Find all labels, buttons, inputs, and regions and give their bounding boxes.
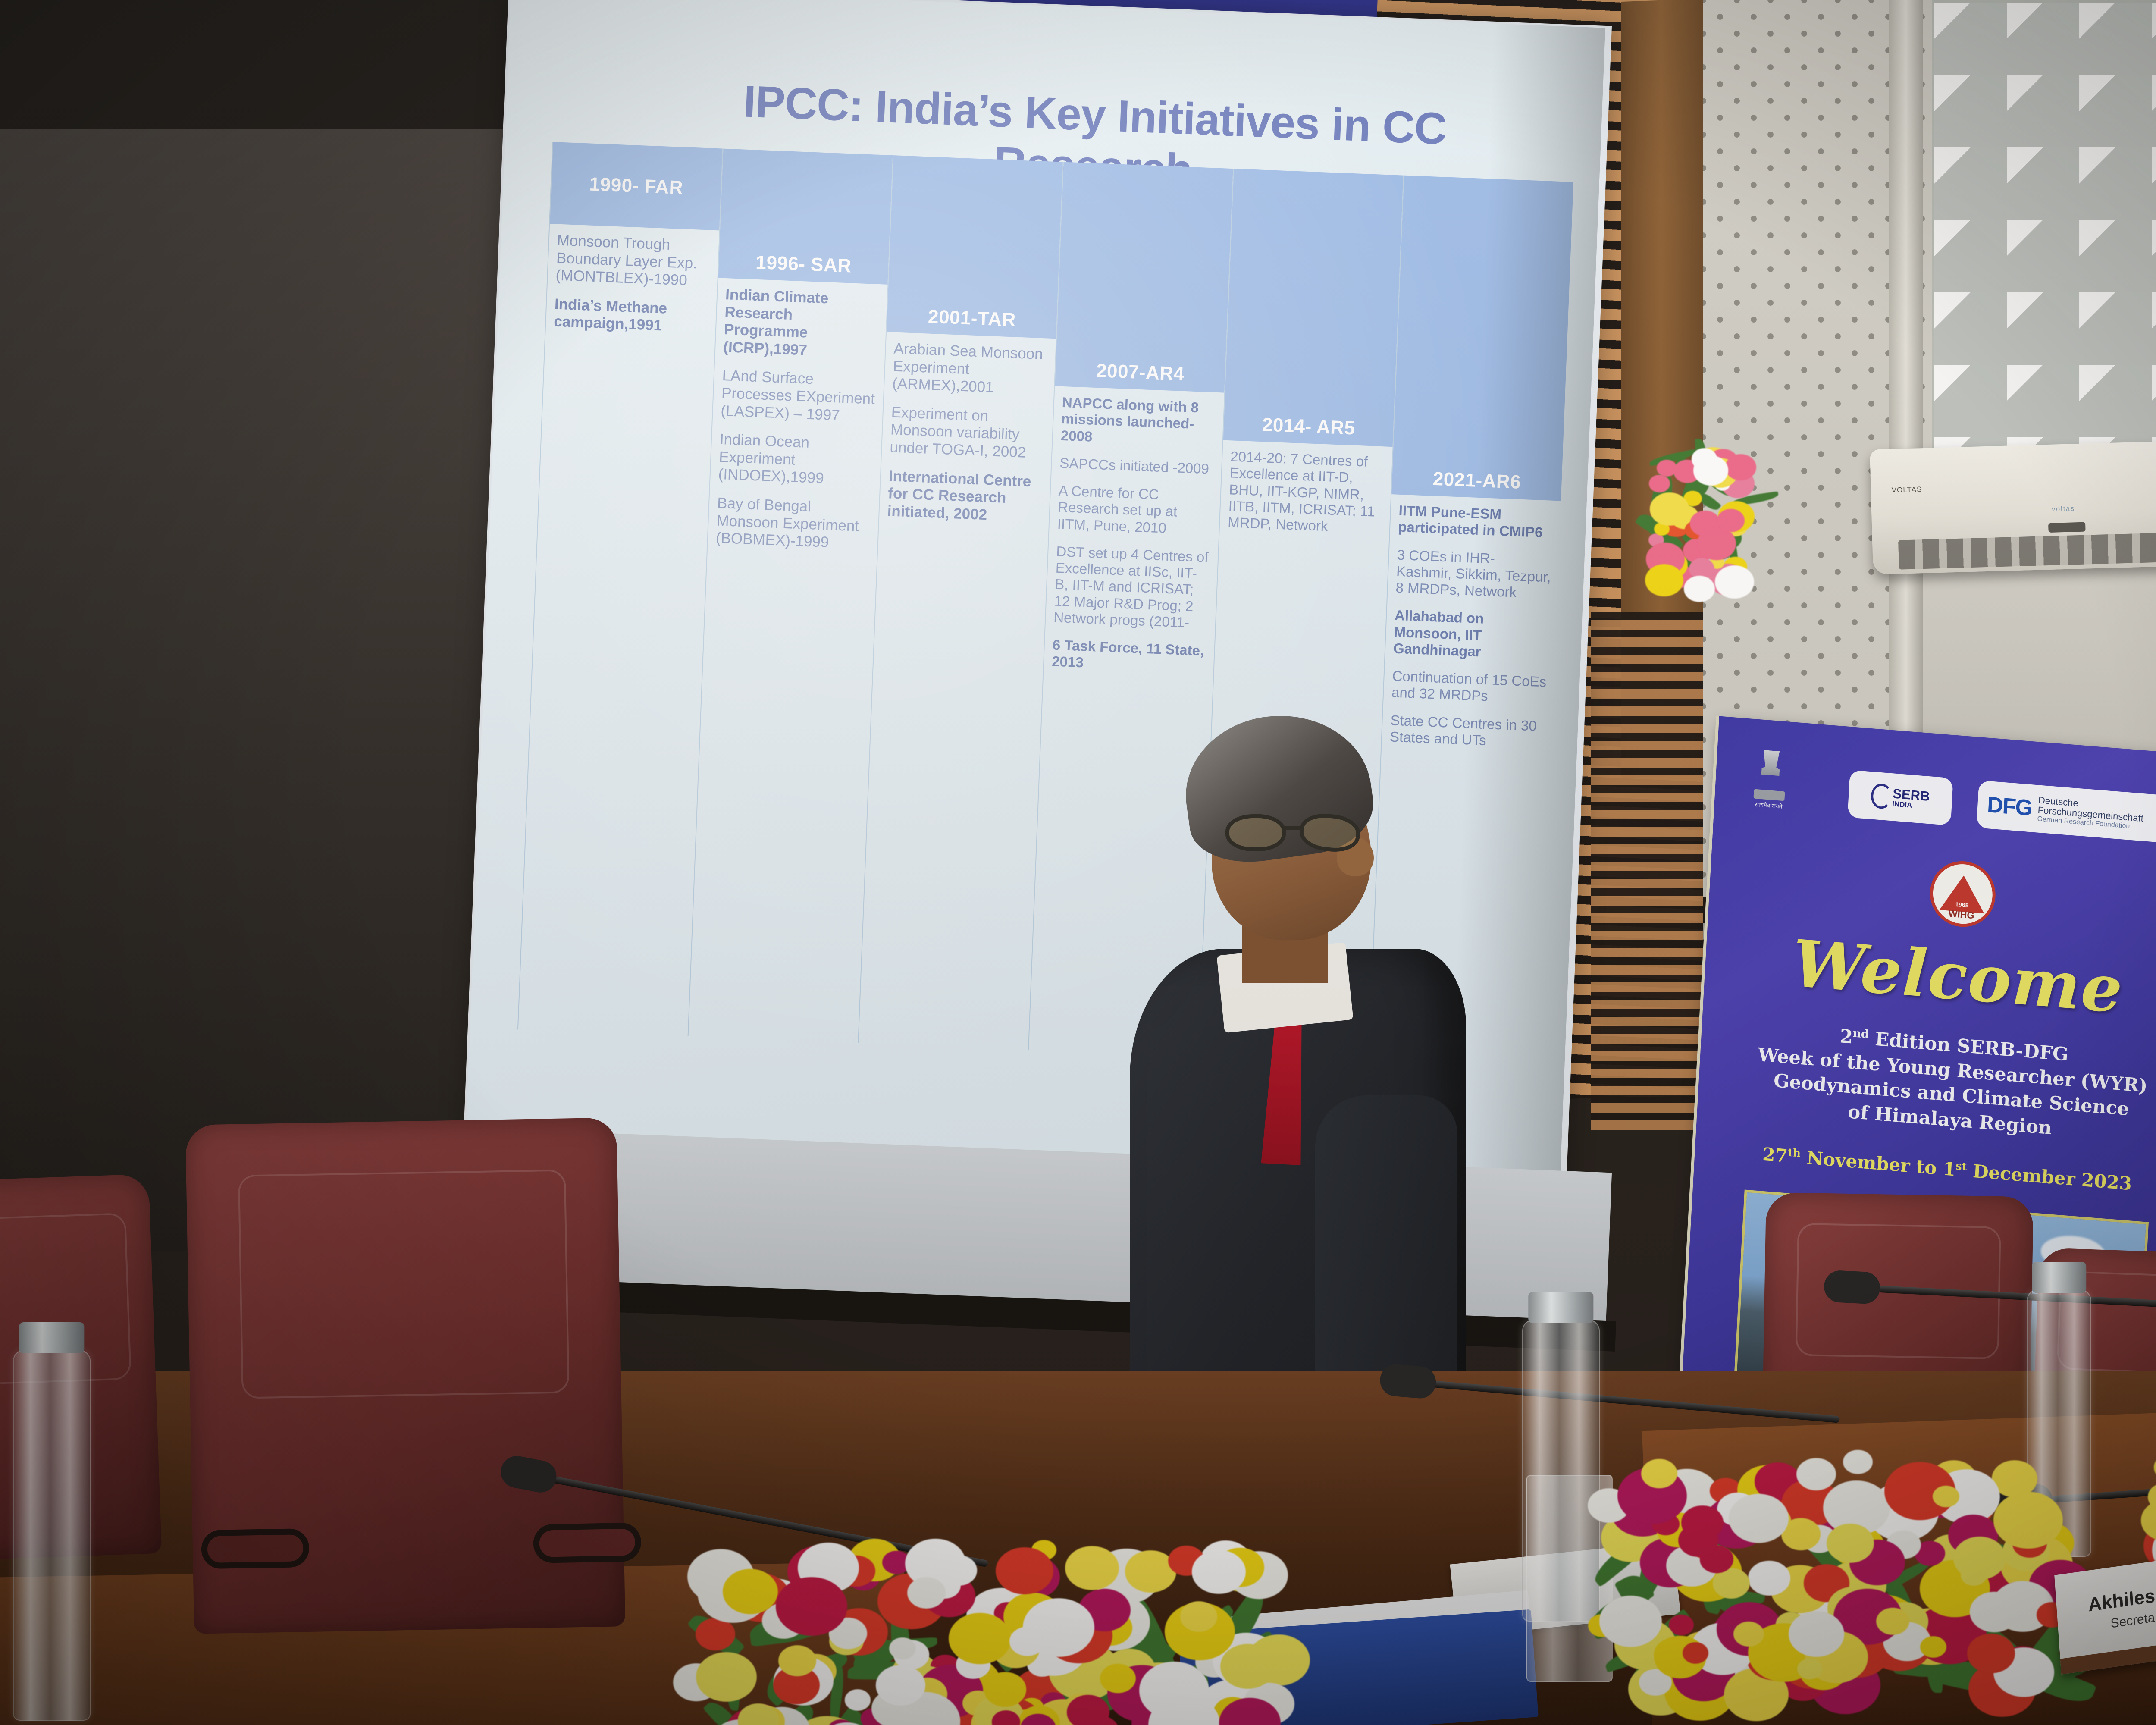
flower-arrangement-left <box>668 1509 1250 1725</box>
flower-petal <box>845 1689 871 1710</box>
garland-flower <box>1649 475 1670 492</box>
flower-petal <box>1192 1550 1246 1594</box>
glass-block-window <box>1932 0 2156 483</box>
microphone-head <box>1823 1270 1881 1305</box>
chair-armrest-right <box>533 1523 642 1563</box>
bottle-cap <box>19 1322 84 1353</box>
ac-brand-logo: VOLTAS <box>1892 485 1922 495</box>
slide-text-block: NAPCC along with 8 missions launched-200… <box>1060 394 1217 450</box>
wihg-acronym: WIHG <box>1948 908 1974 922</box>
flower-petal <box>1748 1561 1790 1596</box>
slide-text-block: Indian Ocean Experiment (INDOEX),1999 <box>718 431 875 489</box>
flower-petal <box>889 1637 916 1659</box>
flower-petal <box>1827 1524 1874 1562</box>
garland-flower <box>1725 454 1756 480</box>
bottle-cap <box>2032 1262 2086 1293</box>
flower-petal <box>778 1645 816 1676</box>
garland-flower <box>1650 492 1689 526</box>
wihg-institute-logo: 1968 WIHG <box>1928 859 1997 929</box>
chair-stitch-seam <box>238 1169 570 1399</box>
india-state-emblem-icon: सत्यमेव जयते <box>1751 749 1789 812</box>
flower-petal <box>996 1547 1053 1595</box>
flower-petal <box>984 1672 1027 1707</box>
dfg-logo: DFG Deutsche Forschungsgemeinschaft Germ… <box>1976 780 2156 844</box>
ac-air-vent <box>1898 531 2156 570</box>
slide-column-header: 2001-TAR <box>887 155 1063 339</box>
flower-petal <box>696 1618 735 1650</box>
flower-petal <box>1970 1592 2019 1632</box>
slide-text-block: Monsoon Trough Boundary Layer Exp. (MONT… <box>555 232 712 291</box>
flower-petal <box>1065 1546 1119 1590</box>
slide-column-header: 1990- FAR <box>550 142 722 230</box>
emblem-motto: सत्यमेव जयते <box>1755 800 1783 810</box>
eyeglass-lens-left <box>1225 814 1286 851</box>
eyeglass-lens-right <box>1298 811 1362 854</box>
event-dates: 27th November to 1st December 2023 <box>1695 1138 2156 1200</box>
slide-text-block: Arabian Sea Monsoon Experiment (ARMEX),2… <box>892 340 1049 399</box>
garland-flower <box>1657 460 1677 477</box>
flower-petal <box>1729 1494 1789 1543</box>
flower-petal <box>1678 1524 1718 1557</box>
conference-room-photo: VOLTAS voltas न IPCC: India’s Key Initia… <box>0 0 2156 1725</box>
flower-petal <box>1641 1459 1677 1489</box>
chair-armrest-left <box>201 1528 310 1569</box>
ac-brand-label: voltas <box>2052 505 2075 513</box>
serb-arc-icon <box>1871 783 1893 809</box>
flower-petal <box>1933 1486 1959 1507</box>
slide-text-block: Bay of Bengal Monsoon Experiment (BOBMEX… <box>715 495 872 553</box>
slide-column-body: Monsoon Trough Boundary Layer Exp. (MONT… <box>546 224 719 337</box>
wihg-founding-year: 1968 <box>1955 901 1969 909</box>
ac-vent-flap <box>2048 522 2086 533</box>
flower-petal <box>907 1577 946 1609</box>
slide-column-body: Indian Climate Research Programme (ICRP)… <box>708 278 887 553</box>
slide-column-header: 2014- AR5 <box>1223 169 1403 447</box>
welcome-heading: Welcome <box>1704 919 2156 1035</box>
slide-column-header: 1996- SAR <box>718 149 893 285</box>
flower-petal <box>1023 1598 1094 1657</box>
event-title-block: 2nd Edition SERB-DFG Week of the Young R… <box>1697 1013 2156 1153</box>
flower-petal <box>1220 1644 1275 1689</box>
slide-column-2: 1996- SARIndian Climate Research Program… <box>688 149 893 1043</box>
flower-petal <box>1733 1621 1764 1647</box>
flower-petal <box>1920 1636 1946 1658</box>
slide-text-block: 6 Task Force, 11 State, 2013 <box>1052 637 1208 676</box>
dfg-wordmark: DFG <box>1987 792 2033 821</box>
garland-flower <box>1684 576 1715 602</box>
slide-column-header: 2007-AR4 <box>1055 162 1233 393</box>
slide-text-block: International Centre for CC Research ini… <box>887 467 1044 526</box>
wall-flower-garland <box>1634 436 1764 617</box>
flower-petal <box>776 1577 847 1636</box>
flower-petal <box>723 1569 778 1614</box>
emblem-lions <box>1757 750 1784 791</box>
name-plate-name: Akhilesh Gupta <box>2087 1575 2156 1616</box>
garland-flower <box>1645 564 1683 596</box>
speaker-eyeglasses <box>1224 814 1373 854</box>
slide-column-3: 2001-TARArabian Sea Monsoon Experiment (… <box>858 155 1063 1050</box>
flower-petal <box>1797 1659 1822 1679</box>
flower-petal <box>2154 1454 2156 1481</box>
flower-petal <box>1599 1596 1662 1647</box>
slide-column-body: 2014-20: 7 Centres of Excellence at IIT-… <box>1220 440 1393 537</box>
flower-petal <box>876 1665 925 1706</box>
flower-petal <box>1843 1450 1873 1474</box>
serb-logo: SERB INDIA <box>1847 770 1953 825</box>
slide-column-1: 1990- FARMonsoon Trough Boundary Layer E… <box>517 142 723 1036</box>
garland-flower <box>1717 509 1745 532</box>
slide-column-body: Arabian Sea Monsoon Experiment (ARMEX),2… <box>879 332 1056 526</box>
slide-text-block: DST set up 4 Centres of Excellence at II… <box>1053 543 1211 632</box>
flower-petal <box>1993 1492 2063 1549</box>
slide-column-body: NAPCC along with 8 missions launched-200… <box>1044 386 1225 676</box>
garland-flower <box>1715 565 1754 599</box>
flower-petal <box>696 1652 757 1702</box>
emblem-base <box>1753 789 1785 801</box>
water-bottle-1 <box>13 1350 91 1721</box>
flower-petal <box>1794 1620 1824 1644</box>
slide-text-block: Experiment on Monsoon variability under … <box>890 404 1047 462</box>
flower-petal <box>1180 1601 1217 1632</box>
flower-petal <box>1139 1662 1209 1719</box>
slide-text-block: LAnd Surface Processes EXperiment (LASPE… <box>721 367 877 426</box>
bottle-cap <box>1528 1292 1593 1323</box>
flower-petal <box>1796 1458 1836 1490</box>
chair-left-2 <box>185 1117 625 1634</box>
slide-text-block: Indian Climate Research Programme (ICRP)… <box>723 286 881 362</box>
flower-petal <box>940 1555 977 1586</box>
flower-arrangement-center <box>1587 1423 2053 1682</box>
slide-text-block: A Centre for CC Research set up at IITM,… <box>1057 483 1213 538</box>
air-conditioner-unit: VOLTAS voltas <box>1870 439 2156 575</box>
slide-text-block: India’s Methane campaign,1991 <box>554 295 710 336</box>
garland-flower <box>1693 455 1729 485</box>
slide-text-block: SAPCCs initiated -2009 <box>1059 455 1215 477</box>
slide-text-block: 2014-20: 7 Centres of Excellence at IIT-… <box>1228 448 1385 536</box>
flower-petal <box>1100 1664 1136 1693</box>
flower-petal <box>949 1613 1011 1664</box>
flower-petal <box>1967 1634 2015 1673</box>
